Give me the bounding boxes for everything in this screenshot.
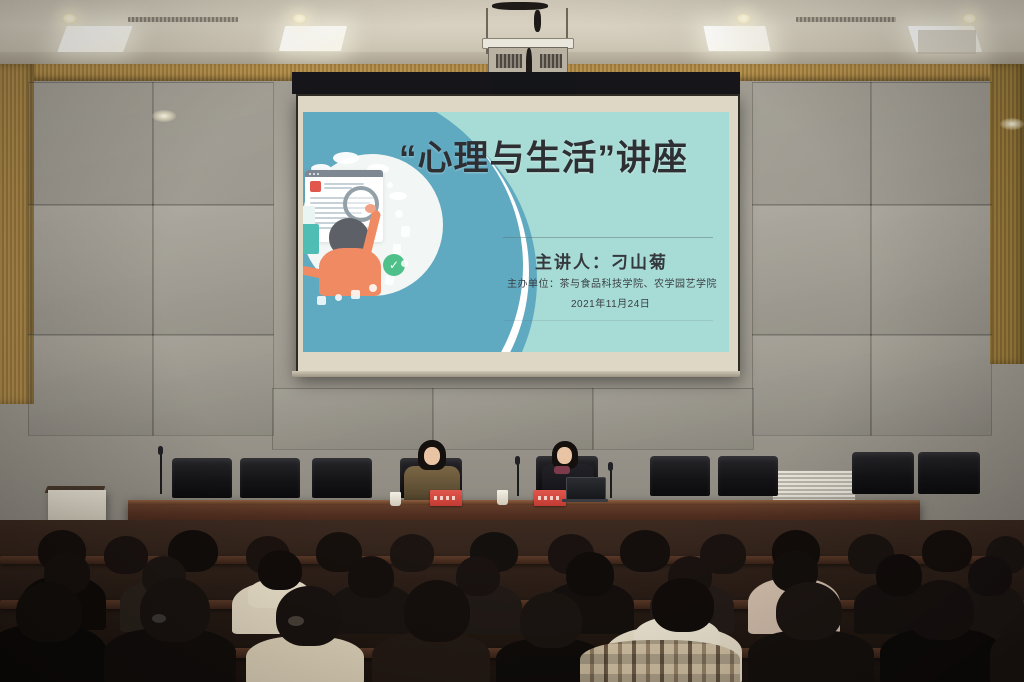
wall-panel-l5 <box>28 334 154 436</box>
browser-text-line-2 <box>324 187 352 189</box>
slide-date: 2021年11月24日 <box>571 295 650 310</box>
wall-panel-l3 <box>28 204 154 336</box>
ceiling-panel-light-3 <box>703 26 770 51</box>
chair-empty-7 <box>918 452 980 494</box>
ceiling-panel-light-2 <box>279 26 347 51</box>
wall-panel-c1 <box>272 388 434 450</box>
browser-logo-block <box>310 181 321 192</box>
ceiling-downlight-3 <box>736 14 751 24</box>
mini-icon-8 <box>335 294 342 301</box>
ceiling-air-vent-right <box>796 17 896 22</box>
nameplate-right <box>534 490 566 506</box>
paper-cup-right <box>497 490 508 505</box>
wall-light-reflection <box>152 110 176 122</box>
slide-speaker-name: 主讲人：刁山菊 <box>535 248 668 273</box>
wall-panel-r4 <box>870 204 992 336</box>
chair-empty-3 <box>312 458 372 498</box>
nameplate-left <box>430 490 462 506</box>
chair-empty-2 <box>240 458 300 498</box>
screen-bottom-bar <box>292 371 740 377</box>
wall-panel-r3 <box>752 204 872 336</box>
slide-divider-top <box>503 237 713 238</box>
presenter-right-face <box>557 447 572 464</box>
slide-organizer: 主办单位：茶与食品科技学院、农学园艺学院 <box>507 275 717 290</box>
wall-panel-c3 <box>592 388 754 450</box>
cloud-icon-1 <box>333 152 359 164</box>
wall-panel-c2 <box>432 388 594 450</box>
paper-cup-left <box>390 492 401 506</box>
laptop-base <box>562 499 608 502</box>
mini-icon-9 <box>317 296 326 305</box>
chair-empty-6 <box>852 452 914 494</box>
chair-empty-5 <box>718 456 778 496</box>
ceiling-downlight-1 <box>62 14 77 24</box>
ceiling-air-vent-left <box>128 17 238 22</box>
ceiling-access-hatch <box>918 30 976 54</box>
mini-icon-6 <box>369 284 377 292</box>
presentation-slide: ✓ “心理与生活”讲座 主讲人：刁山菊 主办单位：茶与食品科技学院、农学园艺学院… <box>303 112 729 352</box>
wall-wood-panel-right <box>990 64 1024 364</box>
lecture-hall-photo: ✓ “心理与生活”讲座 主讲人：刁山菊 主办单位：茶与食品科技学院、农学园艺学院… <box>0 0 1024 682</box>
mini-icon-2 <box>401 226 410 237</box>
browser-dot-3 <box>317 173 319 175</box>
chair-empty-1 <box>172 458 232 498</box>
screen-valance-left <box>292 72 492 94</box>
wall-panel-r1 <box>752 82 872 206</box>
screen-valance-right <box>576 72 740 94</box>
mini-icon-5 <box>384 275 395 286</box>
book-icon <box>303 224 319 254</box>
mini-icon-3 <box>393 244 401 254</box>
wall-panel-l1 <box>28 82 154 206</box>
projection-screen-surface: ✓ “心理与生活”讲座 主讲人：刁山菊 主办单位：茶与食品科技学院、农学园艺学院… <box>303 112 729 352</box>
mini-icon-1 <box>395 210 403 218</box>
slide-title: “心理与生活”讲座 <box>399 130 688 181</box>
wall-panel-l4 <box>152 204 274 336</box>
slide-divider-bottom <box>503 320 713 321</box>
ceiling-panel-light-1 <box>57 26 132 52</box>
hair-tie <box>152 614 166 623</box>
ceiling-downlight-2 <box>292 14 307 24</box>
wall-panel-l2 <box>152 82 274 206</box>
wall-radiator-vent <box>772 470 856 502</box>
wall-panel-r5 <box>752 334 872 436</box>
wall-light-reflection-right <box>1000 118 1024 130</box>
mini-icon-10 <box>387 182 393 188</box>
presenter-left-face <box>424 447 440 465</box>
head-table-edge <box>128 500 920 505</box>
browser-dot-1 <box>309 173 311 175</box>
browser-dot-2 <box>313 173 315 175</box>
wall-panel-r2 <box>870 82 992 206</box>
browser-text-line-1 <box>324 183 364 185</box>
ceiling-downlight-4 <box>962 14 977 24</box>
mini-icon-4 <box>401 260 408 267</box>
wall-panel-r6 <box>870 334 992 436</box>
cloud-icon-4 <box>389 192 407 200</box>
person-hand <box>365 204 376 213</box>
chair-empty-4 <box>650 456 710 496</box>
presenter-right-scarf <box>554 466 570 474</box>
wall-panel-l6 <box>152 334 274 436</box>
laptop-screen <box>566 477 606 501</box>
mini-icon-7 <box>351 290 360 299</box>
plaid-coat <box>580 640 740 682</box>
